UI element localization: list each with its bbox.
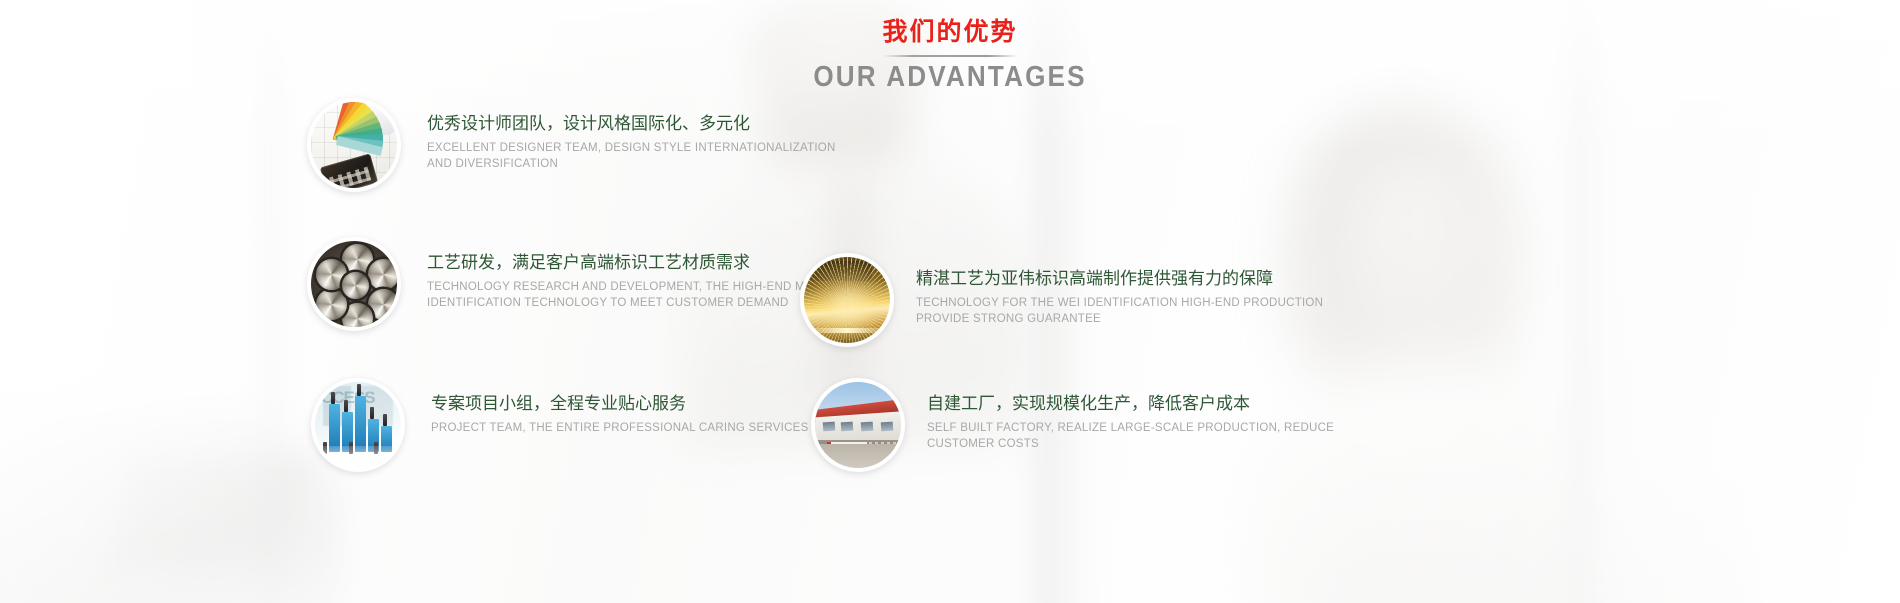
advantage-title-chinese: 优秀设计师团队，设计风格国际化、多元化 xyxy=(427,114,836,134)
factory-window xyxy=(881,422,894,432)
advantage-title-english: PROJECT TEAM, THE ENTIRE PROFESSIONAL CA… xyxy=(431,421,809,436)
section-header: 我们的优势 OUR ADVANTAGES xyxy=(0,18,1900,94)
factory-road xyxy=(815,444,901,468)
advantage-title-chinese: 精湛工艺为亚伟标识高端制作提供强有力的保障 xyxy=(916,269,1323,289)
advantage-item[interactable]: 自建工厂，实现规模化生产，降低客户成本 SELF BUILT FACTORY, … xyxy=(811,378,1334,472)
factory-window xyxy=(823,422,836,432)
ground-fade xyxy=(315,446,401,468)
laser-floor-glow xyxy=(804,328,890,333)
advantage-title-english: SELF BUILT FACTORY, REALIZE LARGE-SCALE … xyxy=(927,421,1334,452)
advantage-title-chinese: 自建工厂，实现规模化生产，降低客户成本 xyxy=(927,394,1334,414)
advantage-text: 专案项目小组，全程专业贴心服务 PROJECT TEAM, THE ENTIRE… xyxy=(431,378,809,437)
advantage-item[interactable]: 精湛工艺为亚伟标识高端制作提供强有力的保障 TECHNOLOGY FOR THE… xyxy=(800,253,1323,347)
page-title-chinese: 我们的优势 xyxy=(0,18,1900,46)
advantage-text: 优秀设计师团队，设计风格国际化、多元化 EXCELLENT DESIGNER T… xyxy=(427,98,836,172)
title-divider xyxy=(883,55,1018,57)
advantage-title-chinese: 工艺研发，满足客户高端标识工艺材质需求 xyxy=(427,253,854,273)
business-team-chart-icon: CCESS xyxy=(315,382,401,468)
advantage-item[interactable]: CCESS 专案项目小组，全程专业贴心服务 PROJECT TEAM, THE … xyxy=(311,378,809,472)
factory-window xyxy=(861,422,874,432)
advantage-title-chinese: 专案项目小组，全程专业贴心服务 xyxy=(431,394,809,414)
advantage-icon-frame xyxy=(307,98,401,192)
advantage-item[interactable]: 优秀设计师团队，设计风格国际化、多元化 EXCELLENT DESIGNER T… xyxy=(307,98,836,192)
advantage-text: 自建工厂，实现规模化生产，降低客户成本 SELF BUILT FACTORY, … xyxy=(927,378,1334,452)
advantage-item[interactable]: 工艺研发，满足客户高端标识工艺材质需求 TECHNOLOGY RESEARCH … xyxy=(307,237,854,331)
laser-cutting-icon xyxy=(804,257,890,343)
factory-building-icon xyxy=(815,382,901,468)
factory-window xyxy=(841,422,854,432)
metal-pipes-icon xyxy=(311,241,397,327)
advantage-text: 精湛工艺为亚伟标识高端制作提供强有力的保障 TECHNOLOGY FOR THE… xyxy=(916,253,1323,327)
advantage-icon-frame xyxy=(307,237,401,331)
advantage-icon-frame xyxy=(800,253,894,347)
spark-burst xyxy=(847,305,849,307)
advantage-title-english: TECHNOLOGY RESEARCH AND DEVELOPMENT, THE… xyxy=(427,280,854,311)
page-title-english: OUR ADVANTAGES xyxy=(95,61,1805,94)
advantage-icon-frame: CCESS xyxy=(311,378,405,472)
advantage-title-english: EXCELLENT DESIGNER TEAM, DESIGN STYLE IN… xyxy=(427,141,836,172)
advantage-icon-frame xyxy=(811,378,905,472)
advantage-text: 工艺研发，满足客户高端标识工艺材质需求 TECHNOLOGY RESEARCH … xyxy=(427,237,854,311)
color-swatch-blueprint-icon xyxy=(311,102,397,188)
advantage-title-english: TECHNOLOGY FOR THE WEI IDENTIFICATION HI… xyxy=(916,296,1323,327)
